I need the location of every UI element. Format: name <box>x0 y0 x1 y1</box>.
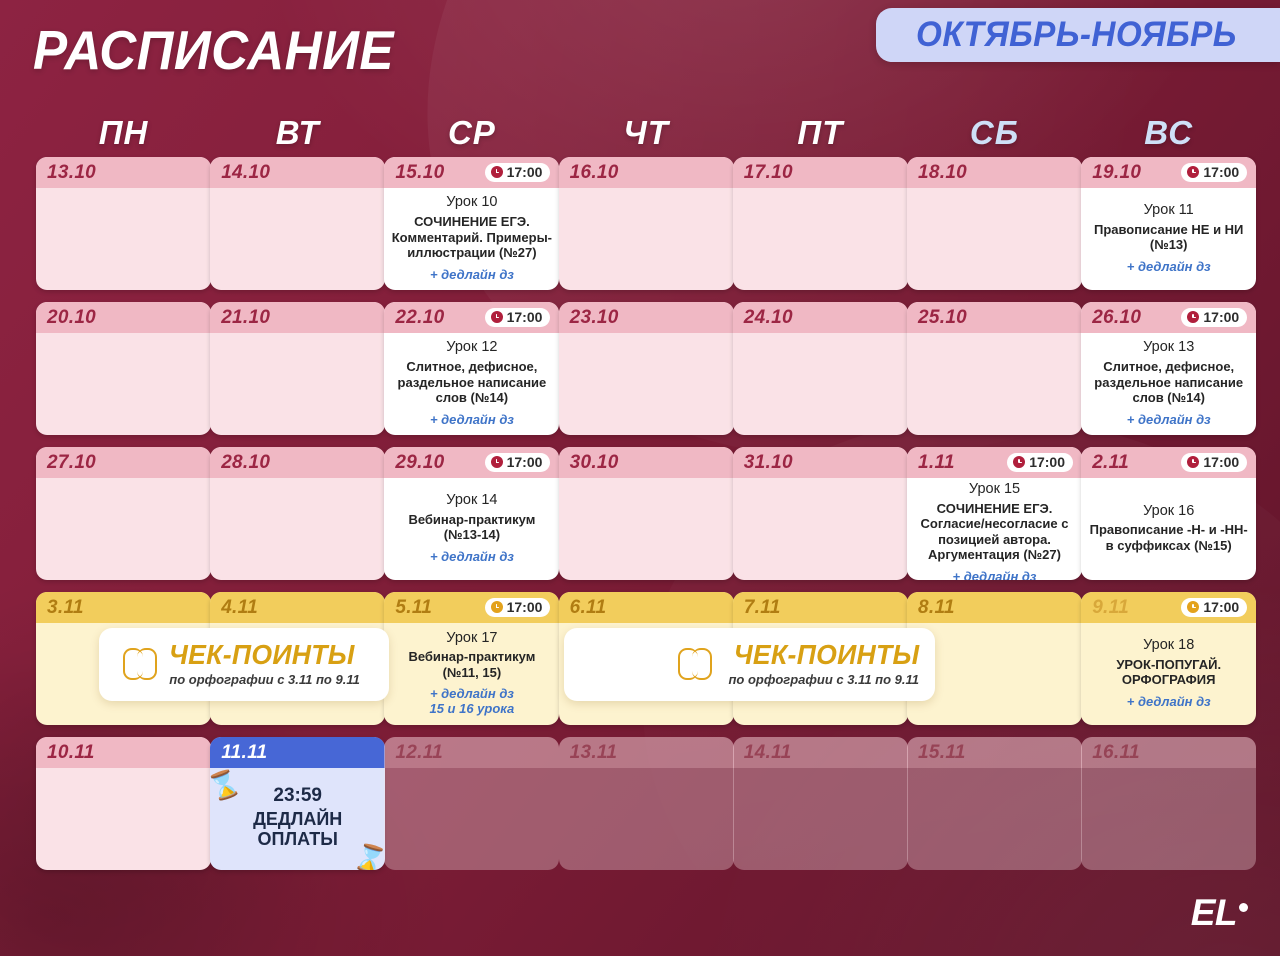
day-cell-header: 4.11 <box>210 592 385 623</box>
day-date: 11.11 <box>221 743 267 762</box>
day-cell-1-11[interactable]: 1.1117:00Урок 15СОЧИНЕНИЕ ЕГЭ.Согласие/н… <box>907 447 1082 580</box>
day-cell-header: 16.11 <box>1081 737 1256 768</box>
clock-icon <box>1187 601 1199 613</box>
day-cell-body: Урок 10СОЧИНЕНИЕ ЕГЭ.Комментарий. Пример… <box>384 188 559 290</box>
homework-deadline-link[interactable]: + дедлайн дз <box>1127 412 1211 427</box>
lesson-topic: СОЧИНЕНИЕ ЕГЭ.Комментарий. Примеры-иллюс… <box>390 214 553 260</box>
day-cell-header: 6.11 <box>559 592 734 623</box>
week-row: 13.1014.1015.1017:00Урок 10СОЧИНЕНИЕ ЕГЭ… <box>36 157 1246 290</box>
weekday-label-вт: ВТ <box>210 116 385 149</box>
lesson-time-pill: 17:00 <box>485 308 551 327</box>
day-cell-14-10[interactable]: 14.10 <box>210 157 385 290</box>
homework-deadline-link[interactable]: + дедлайн дз <box>1127 694 1211 709</box>
day-cell-body <box>733 768 908 870</box>
day-cell-16-10[interactable]: 16.10 <box>559 157 734 290</box>
day-cell-header: 22.1017:00 <box>384 302 559 333</box>
checkpoint-banner-1[interactable]: ЧЕК-ПОИНТЫпо орфографии с 3.11 по 9.11 <box>99 628 389 701</box>
day-date: 31.10 <box>744 453 793 472</box>
page-title: РАСПИСАНИЕ <box>33 23 394 78</box>
day-cell-body <box>907 188 1082 290</box>
clock-icon <box>1013 456 1025 468</box>
day-cell-header: 17.10 <box>733 157 908 188</box>
lesson-topic: УРОК-ПОПУГАЙ. ОРФОГРАФИЯ <box>1087 657 1250 688</box>
lesson-time-pill: 17:00 <box>1181 598 1247 617</box>
day-cell-header: 15.11 <box>907 737 1082 768</box>
poster-background: РАСПИСАНИЕ ОКТЯБРЬ-НОЯБРЬ ПНВТСРЧТПТСБВС… <box>0 0 1280 956</box>
lesson-topic-heading: СОЧИНЕНИЕ ЕГЭ. <box>390 214 553 229</box>
lesson-topic-detail: Вебинар-практикум (№13-14) <box>408 512 535 542</box>
day-cell-26-10[interactable]: 26.1017:00Урок 13Слитное, дефисное, разд… <box>1081 302 1256 435</box>
homework-deadline-label: + дедлайн дз <box>430 686 514 701</box>
day-date: 24.10 <box>744 308 793 327</box>
day-date: 1.11 <box>918 453 955 472</box>
day-cell-body <box>733 333 908 435</box>
checkpoint-subtitle: по орфографии с 3.11 по 9.11 <box>728 673 919 687</box>
day-cell-header: 26.1017:00 <box>1081 302 1256 333</box>
day-cell-body: Урок 16Правописание -Н- и -НН- в суффикс… <box>1081 478 1256 580</box>
day-date: 16.10 <box>570 163 619 182</box>
homework-deadline-label: + дедлайн дз <box>1127 694 1211 709</box>
lesson-topic: Правописание НЕ и НИ (№13) <box>1087 222 1250 253</box>
day-cell-header: 30.10 <box>559 447 734 478</box>
hourglass-icon: ⌛ <box>210 767 244 803</box>
day-cell-header: 7.11 <box>733 592 908 623</box>
day-date: 25.10 <box>918 308 967 327</box>
schedule-grid: 13.1014.1015.1017:00Урок 10СОЧИНЕНИЕ ЕГЭ… <box>36 157 1246 882</box>
lesson-number: Урок 10 <box>446 194 497 211</box>
homework-deadline-label: + дедлайн дз <box>430 267 514 282</box>
clock-icon <box>491 166 503 178</box>
day-date: 15.11 <box>918 743 966 762</box>
day-cell-header: 24.10 <box>733 302 908 333</box>
day-cell-header: 2.1117:00 <box>1081 447 1256 478</box>
day-cell-body <box>559 768 734 870</box>
lesson-topic: Правописание -Н- и -НН- в суффиксах (№15… <box>1087 522 1250 553</box>
checkpoint-title: ЧЕК-ПОИНТЫ <box>733 641 919 669</box>
day-date: 18.10 <box>918 163 967 182</box>
day-cell-29-10[interactable]: 29.1017:00Урок 14Вебинар-практикум (№13-… <box>384 447 559 580</box>
lesson-time: 17:00 <box>1203 310 1239 324</box>
week-row: 20.1021.1022.1017:00Урок 12Слитное, дефи… <box>36 302 1246 435</box>
day-cell-body <box>1081 768 1256 870</box>
lesson-topic-detail: Слитное, дефисное, раздельное написание … <box>398 359 547 405</box>
day-date: 7.11 <box>744 598 781 617</box>
day-cell-body <box>559 478 734 580</box>
lesson-topic-detail: Правописание НЕ и НИ (№13) <box>1094 222 1243 252</box>
day-cell-header: 11.11 <box>210 737 385 768</box>
day-date: 4.11 <box>221 598 258 617</box>
day-cell-body: Урок 12Слитное, дефисное, раздельное нап… <box>384 333 559 435</box>
day-cell-header: 23.10 <box>559 302 734 333</box>
checkpoint-frame-icon <box>123 648 157 682</box>
day-cell-header: 20.10 <box>36 302 211 333</box>
lesson-time-pill: 17:00 <box>1181 453 1247 472</box>
day-cell-header: 14.11 <box>733 737 908 768</box>
day-cell-header: 27.10 <box>36 447 211 478</box>
day-cell-12-11[interactable]: 12.11 <box>384 737 559 870</box>
day-cell-body <box>559 188 734 290</box>
day-cell-23-10[interactable]: 23.10 <box>559 302 734 435</box>
day-cell-body: Урок 14Вебинар-практикум (№13-14)+ дедла… <box>384 478 559 580</box>
lesson-topic: СОЧИНЕНИЕ ЕГЭ.Согласие/несогласие с пози… <box>913 501 1076 563</box>
lesson-time: 17:00 <box>507 455 543 469</box>
day-cell-body <box>384 768 559 870</box>
day-cell-body: Урок 15СОЧИНЕНИЕ ЕГЭ.Согласие/несогласие… <box>907 478 1082 580</box>
day-cell-header: 3.11 <box>36 592 211 623</box>
lesson-time: 17:00 <box>507 600 543 614</box>
weekday-label-вс: ВС <box>1081 116 1256 149</box>
lesson-time-pill: 17:00 <box>1181 308 1247 327</box>
day-cell-10-11[interactable]: 10.11 <box>36 737 211 870</box>
checkpoint-text: ЧЕК-ПОИНТЫпо орфографии с 3.11 по 9.11 <box>169 641 364 687</box>
checkpoint-title: ЧЕК-ПОИНТЫ <box>169 641 355 669</box>
day-cell-body <box>210 188 385 290</box>
lesson-number: Урок 18 <box>1143 637 1194 654</box>
weekday-label-ср: СР <box>384 116 559 149</box>
lesson-topic: Вебинар-практикум (№11, 15) <box>390 649 553 680</box>
day-cell-body <box>733 478 908 580</box>
day-date: 13.10 <box>47 163 96 182</box>
day-cell-header: 13.11 <box>559 737 734 768</box>
checkpoint-frame-icon <box>678 648 712 682</box>
day-cell-13-10[interactable]: 13.10 <box>36 157 211 290</box>
homework-deadline-label: + дедлайн дз <box>430 412 514 427</box>
day-cell-body: Урок 13Слитное, дефисное, раздельное нап… <box>1081 333 1256 435</box>
homework-deadline-link[interactable]: + дедлайн дз <box>430 412 514 427</box>
lesson-time: 17:00 <box>507 165 543 179</box>
day-cell-18-10[interactable]: 18.10 <box>907 157 1082 290</box>
lesson-time: 17:00 <box>1203 165 1239 179</box>
lesson-number: Урок 11 <box>1144 202 1194 219</box>
lesson-topic: Слитное, дефисное, раздельное написание … <box>390 359 553 405</box>
day-cell-body <box>210 333 385 435</box>
homework-deadline-link[interactable]: + дедлайн дз <box>1127 259 1211 274</box>
day-date: 13.11 <box>570 743 618 762</box>
day-date: 10.11 <box>47 743 95 762</box>
lesson-time-pill: 17:00 <box>1181 163 1247 182</box>
day-date: 6.11 <box>570 598 607 617</box>
lesson-time-pill: 17:00 <box>485 598 551 617</box>
day-cell-body <box>36 478 211 580</box>
checkpoint-text: ЧЕК-ПОИНТЫпо орфографии с 3.11 по 9.11 <box>724 641 919 687</box>
day-date: 3.11 <box>47 598 84 617</box>
day-cell-header: 16.10 <box>559 157 734 188</box>
day-date: 16.11 <box>1092 743 1140 762</box>
day-cell-header: 13.10 <box>36 157 211 188</box>
homework-deadline-label: + дедлайн дз <box>430 549 514 564</box>
lesson-time: 17:00 <box>1203 600 1239 614</box>
day-date: 17.10 <box>744 163 793 182</box>
lesson-topic-detail: Согласие/несогласие с позицией автора. А… <box>921 516 1069 562</box>
day-cell-header: 18.10 <box>907 157 1082 188</box>
day-cell-17-10[interactable]: 17.10 <box>733 157 908 290</box>
day-cell-body <box>559 333 734 435</box>
day-cell-20-10[interactable]: 20.10 <box>36 302 211 435</box>
degree-dot-icon <box>1239 903 1248 912</box>
day-cell-header: 28.10 <box>210 447 385 478</box>
day-cell-5-11[interactable]: 5.1117:00Урок 17Вебинар-практикум (№11, … <box>384 592 559 725</box>
lesson-topic: Вебинар-практикум (№13-14) <box>390 512 553 543</box>
day-date: 2.11 <box>1092 453 1129 472</box>
lesson-topic: Слитное, дефисное, раздельное написание … <box>1087 359 1250 405</box>
lesson-time: 17:00 <box>1029 455 1065 469</box>
lesson-time: 17:00 <box>507 310 543 324</box>
brand-logo-text: EL <box>1191 892 1237 933</box>
day-cell-28-10[interactable]: 28.10 <box>210 447 385 580</box>
clock-icon <box>491 311 503 323</box>
day-date: 26.10 <box>1092 308 1141 327</box>
week-row: 10.1111.11⌛23:59ДЕДЛАЙН ОПЛАТЫ⌛12.1113.1… <box>36 737 1246 870</box>
day-cell-2-11[interactable]: 2.1117:00Урок 16Правописание -Н- и -НН- … <box>1081 447 1256 580</box>
clock-icon <box>491 456 503 468</box>
lesson-time-pill: 17:00 <box>485 163 551 182</box>
lesson-number: Урок 13 <box>1143 339 1194 356</box>
day-cell-body <box>733 188 908 290</box>
day-cell-24-10[interactable]: 24.10 <box>733 302 908 435</box>
clock-icon <box>1187 166 1199 178</box>
day-date: 29.10 <box>395 453 444 472</box>
day-cell-header: 15.1017:00 <box>384 157 559 188</box>
day-cell-body: Урок 18УРОК-ПОПУГАЙ. ОРФОГРАФИЯ+ дедлайн… <box>1081 623 1256 725</box>
day-cell-header: 10.11 <box>36 737 211 768</box>
day-cell-body: Урок 11Правописание НЕ и НИ (№13)+ дедла… <box>1081 188 1256 290</box>
day-cell-header: 31.10 <box>733 447 908 478</box>
day-cell-21-10[interactable]: 21.10 <box>210 302 385 435</box>
month-badge: ОКТЯБРЬ-НОЯБРЬ <box>876 8 1280 62</box>
day-cell-25-10[interactable]: 25.10 <box>907 302 1082 435</box>
day-cell-31-10[interactable]: 31.10 <box>733 447 908 580</box>
brand-logo: EL <box>1191 894 1248 931</box>
lesson-topic-detail: Слитное, дефисное, раздельное написание … <box>1094 359 1243 405</box>
homework-deadline-link[interactable]: + дедлайн дз <box>953 569 1037 580</box>
day-cell-15-11[interactable]: 15.11 <box>907 737 1082 870</box>
homework-deadline-link[interactable]: + дедлайн дз15 и 16 урока <box>429 686 514 716</box>
day-cell-body: Урок 17Вебинар-практикум (№11, 15)+ дедл… <box>384 623 559 725</box>
weekday-label-сб: СБ <box>907 116 1082 149</box>
day-cell-body <box>907 768 1082 870</box>
day-date: 15.10 <box>395 163 444 182</box>
day-date: 30.10 <box>570 453 619 472</box>
lesson-time-pill: 17:00 <box>485 453 551 472</box>
day-date: 19.10 <box>1092 163 1141 182</box>
lesson-number: Урок 15 <box>969 481 1020 498</box>
day-cell-body: ⌛23:59ДЕДЛАЙН ОПЛАТЫ⌛ <box>210 768 385 870</box>
day-cell-header: 21.10 <box>210 302 385 333</box>
day-date: 14.11 <box>744 743 792 762</box>
lesson-topic-detail: Правописание -Н- и -НН- в суффиксах (№15… <box>1090 522 1248 552</box>
homework-deadline-label-line2: 15 и 16 урока <box>429 701 514 716</box>
checkpoint-subtitle: по орфографии с 3.11 по 9.11 <box>169 673 364 687</box>
homework-deadline-label: + дедлайн дз <box>1127 412 1211 427</box>
week-row: 3.114.115.1117:00Урок 17Вебинар-практику… <box>36 592 1246 725</box>
day-cell-header: 8.11 <box>907 592 1082 623</box>
day-cell-body <box>36 768 211 870</box>
homework-deadline-label: + дедлайн дз <box>1127 259 1211 274</box>
day-cell-header: 29.1017:00 <box>384 447 559 478</box>
day-cell-30-10[interactable]: 30.10 <box>559 447 734 580</box>
homework-deadline-link[interactable]: + дедлайн дз <box>430 267 514 282</box>
day-cell-14-11[interactable]: 14.11 <box>733 737 908 870</box>
month-badge-label: ОКТЯБРЬ-НОЯБРЬ <box>916 17 1237 52</box>
day-date: 22.10 <box>395 308 444 327</box>
lesson-time-pill: 17:00 <box>1007 453 1073 472</box>
day-cell-13-11[interactable]: 13.11 <box>559 737 734 870</box>
lesson-number: Урок 16 <box>1143 503 1194 520</box>
weekday-header-row: ПНВТСРЧТПТСБВС <box>36 116 1244 158</box>
day-cell-header: 9.1117:00 <box>1081 592 1256 623</box>
day-cell-header: 5.1117:00 <box>384 592 559 623</box>
day-date: 12.11 <box>395 743 443 762</box>
day-cell-19-10[interactable]: 19.1017:00Урок 11Правописание НЕ и НИ (№… <box>1081 157 1256 290</box>
hourglass-icon: ⌛ <box>351 842 385 870</box>
day-date: 5.11 <box>395 598 432 617</box>
day-cell-body <box>36 333 211 435</box>
lesson-number: Урок 14 <box>446 492 497 509</box>
lesson-topic-detail: Комментарий. Примеры-иллюстрации (№27) <box>392 230 552 260</box>
lesson-time: 17:00 <box>1203 455 1239 469</box>
day-cell-16-11[interactable]: 16.11 <box>1081 737 1256 870</box>
homework-deadline-label: + дедлайн дз <box>953 569 1037 580</box>
lesson-number: Урок 12 <box>446 339 497 356</box>
day-date: 9.11 <box>1092 598 1129 617</box>
weekday-label-пт: ПТ <box>733 116 908 149</box>
weekday-label-чт: ЧТ <box>559 116 734 149</box>
lesson-topic-heading: СОЧИНЕНИЕ ЕГЭ. <box>913 501 1076 516</box>
clock-icon <box>1187 311 1199 323</box>
day-cell-header: 14.10 <box>210 157 385 188</box>
day-cell-header: 12.11 <box>384 737 559 768</box>
checkpoint-banner-2[interactable]: ЧЕК-ПОИНТЫпо орфографии с 3.11 по 9.11 <box>564 628 935 701</box>
day-cell-body <box>36 188 211 290</box>
day-date: 14.10 <box>221 163 270 182</box>
clock-icon <box>491 601 503 613</box>
day-cell-body <box>210 478 385 580</box>
day-date: 8.11 <box>918 598 955 617</box>
payment-deadline-time: 23:59 <box>273 786 322 807</box>
day-cell-27-10[interactable]: 27.10 <box>36 447 211 580</box>
lesson-topic-detail: Вебинар-практикум (№11, 15) <box>408 649 535 679</box>
day-date: 23.10 <box>570 308 619 327</box>
day-cell-header: 25.10 <box>907 302 1082 333</box>
homework-deadline-link[interactable]: + дедлайн дз <box>430 549 514 564</box>
clock-icon <box>1187 456 1199 468</box>
weekday-label-пн: ПН <box>36 116 211 149</box>
day-cell-9-11[interactable]: 9.1117:00Урок 18УРОК-ПОПУГАЙ. ОРФОГРАФИЯ… <box>1081 592 1256 725</box>
day-cell-15-10[interactable]: 15.1017:00Урок 10СОЧИНЕНИЕ ЕГЭ.Комментар… <box>384 157 559 290</box>
day-date: 21.10 <box>221 308 270 327</box>
lesson-topic-heading: УРОК-ПОПУГАЙ. ОРФОГРАФИЯ <box>1087 657 1250 688</box>
day-cell-22-10[interactable]: 22.1017:00Урок 12Слитное, дефисное, разд… <box>384 302 559 435</box>
lesson-number: Урок 17 <box>446 630 497 647</box>
day-date: 28.10 <box>221 453 270 472</box>
week-row: 27.1028.1029.1017:00Урок 14Вебинар-практ… <box>36 447 1246 580</box>
day-cell-header: 19.1017:00 <box>1081 157 1256 188</box>
payment-deadline-label: ДЕДЛАЙН ОПЛАТЫ <box>216 809 379 849</box>
day-cell-body <box>907 333 1082 435</box>
day-date: 20.10 <box>47 308 96 327</box>
day-cell-header: 1.1117:00 <box>907 447 1082 478</box>
day-date: 27.10 <box>47 453 96 472</box>
day-cell-11-11[interactable]: 11.11⌛23:59ДЕДЛАЙН ОПЛАТЫ⌛ <box>210 737 385 870</box>
